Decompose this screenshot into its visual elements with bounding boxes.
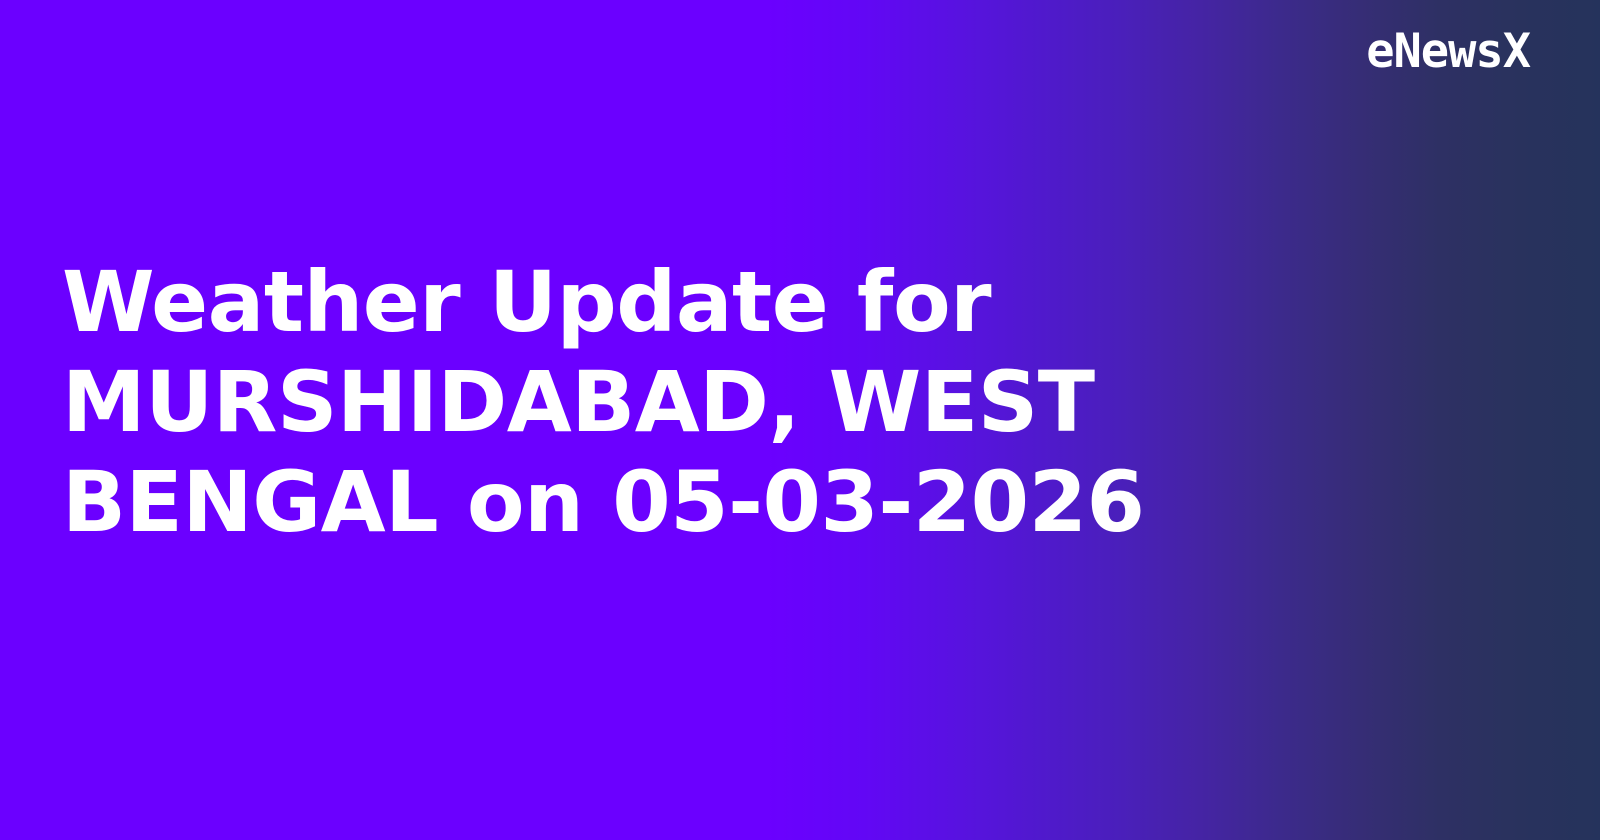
weather-update-card: eNewsX Weather Update for MURSHIDABAD, W… [0, 0, 1600, 840]
brand-logo: eNewsX [1366, 28, 1530, 75]
page-title: Weather Update for MURSHIDABAD, WEST BEN… [62, 252, 1242, 552]
headline-block: Weather Update for MURSHIDABAD, WEST BEN… [62, 252, 1242, 552]
